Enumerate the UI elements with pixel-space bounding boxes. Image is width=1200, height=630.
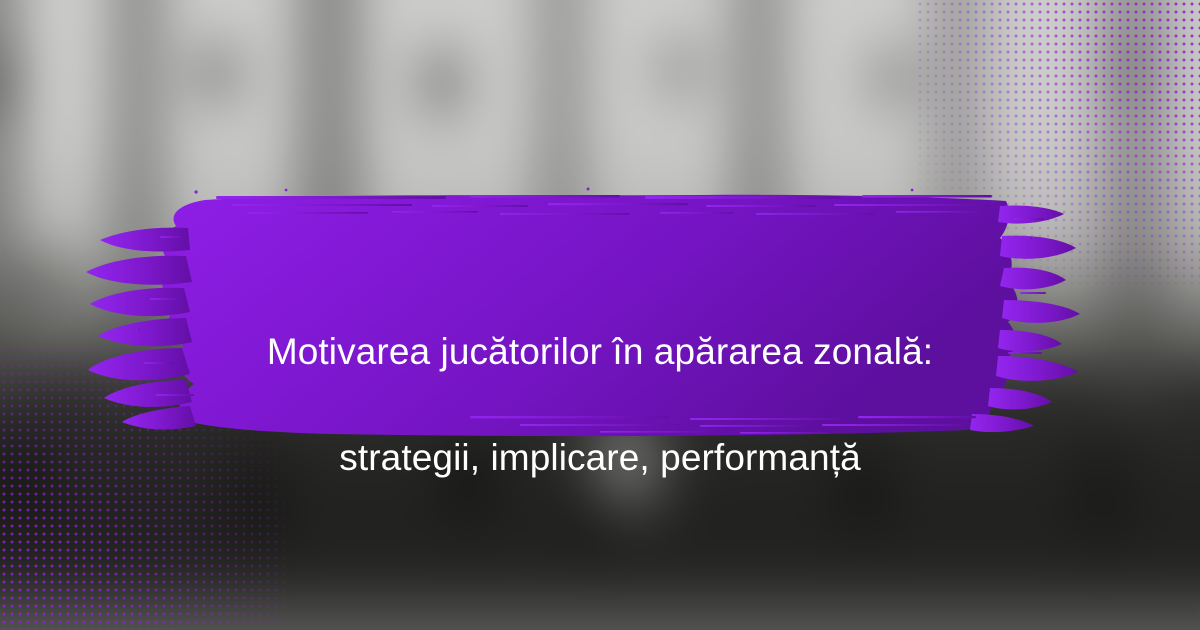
page-title: Motivarea jucătorilor în apărarea zonală…	[0, 272, 1200, 537]
background-windows-upper	[0, 0, 1200, 195]
headline-line-1: Motivarea jucătorilor în apărarea zonală…	[0, 325, 1200, 378]
headline-line-2: strategii, implicare, performanță	[0, 431, 1200, 484]
background-ground	[0, 600, 1200, 630]
social-card: Motivarea jucătorilor în apărarea zonală…	[0, 0, 1200, 630]
